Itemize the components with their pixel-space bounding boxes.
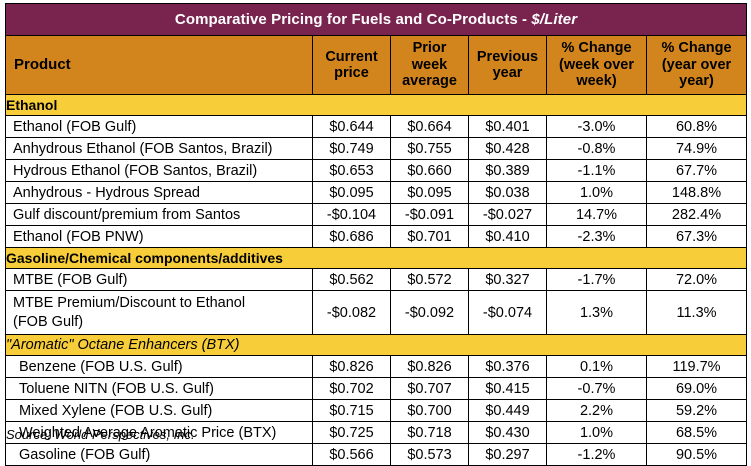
cell-previous-year: -$0.074 [469, 291, 547, 335]
cell-previous-year: $0.410 [469, 226, 547, 248]
cell-current-price: $0.653 [313, 160, 391, 182]
cell-prior-week-average: $0.718 [391, 422, 469, 444]
column-header-week-over-week: % Change (week over week) [547, 36, 647, 95]
cell-prior-week-average: $0.755 [391, 138, 469, 160]
cell-previous-year: -$0.027 [469, 204, 547, 226]
cell-current-price: -$0.082 [313, 291, 391, 335]
cell-pct-change-week-over-week: -3.0% [547, 116, 647, 138]
cell-product: Ethanol (FOB PNW) [6, 226, 313, 248]
section-header-label: "Aromatic" Octane Enhancers (BTX) [6, 335, 747, 356]
cell-pct-change-week-over-week: -1.1% [547, 160, 647, 182]
table-row: Ethanol (FOB PNW)$0.686$0.701$0.410-2.3%… [6, 226, 747, 248]
cell-previous-year: $0.449 [469, 400, 547, 422]
column-header-current-price: Current price [313, 36, 391, 95]
column-header-year-over-year-line-3: year) [647, 73, 746, 89]
cell-pct-change-week-over-week: 1.3% [547, 291, 647, 335]
source-note: Source: World Perspectives, Inc. [6, 427, 195, 442]
cell-prior-week-average: $0.701 [391, 226, 469, 248]
cell-current-price: $0.725 [313, 422, 391, 444]
column-header-previous-year-line-2: year [469, 65, 546, 81]
pricing-table-page: Comparative Pricing for Fuels and Co-Pro… [0, 0, 751, 447]
cell-current-price: -$0.104 [313, 204, 391, 226]
cell-prior-week-average: $0.095 [391, 182, 469, 204]
column-header-week-over-week-line-3: week) [547, 73, 646, 89]
cell-pct-change-week-over-week: 1.0% [547, 182, 647, 204]
cell-product: MTBE Premium/Discount to Ethanol(FOB Gul… [6, 291, 313, 335]
cell-previous-year: $0.415 [469, 378, 547, 400]
column-header-week-over-week-line-1: % Change [547, 40, 646, 56]
column-header-prior-week-average-line-2: week [391, 57, 468, 73]
cell-previous-year: $0.428 [469, 138, 547, 160]
cell-product: Mixed Xylene (FOB U.S. Gulf) [6, 400, 313, 422]
comparative-pricing-table: Comparative Pricing for Fuels and Co-Pro… [5, 3, 747, 466]
cell-pct-change-year-over-year: 67.3% [647, 226, 747, 248]
cell-pct-change-year-over-year: 68.5% [647, 422, 747, 444]
table-title: Comparative Pricing for Fuels and Co-Pro… [6, 4, 747, 36]
table-body: EthanolEthanol (FOB Gulf)$0.644$0.664$0.… [6, 95, 747, 466]
table-row: MTBE Premium/Discount to Ethanol(FOB Gul… [6, 291, 747, 335]
cell-previous-year: $0.327 [469, 269, 547, 291]
cell-product-line-2: (FOB Gulf) [13, 313, 312, 332]
table-row: MTBE (FOB Gulf)$0.562$0.572$0.327-1.7%72… [6, 269, 747, 291]
cell-prior-week-average: $0.664 [391, 116, 469, 138]
column-header-prior-week-average: Prior week average [391, 36, 469, 95]
cell-pct-change-week-over-week: 1.0% [547, 422, 647, 444]
cell-prior-week-average: $0.707 [391, 378, 469, 400]
table-title-main: Comparative Pricing for Fuels and Co-Pro… [175, 11, 532, 28]
column-header-product-line-1: Product [14, 56, 71, 73]
title-row: Comparative Pricing for Fuels and Co-Pro… [6, 4, 747, 36]
section-header-row: Ethanol [6, 95, 747, 116]
table-head: Comparative Pricing for Fuels and Co-Pro… [6, 4, 747, 95]
table-row: Gulf discount/premium from Santos-$0.104… [6, 204, 747, 226]
column-header-prior-week-average-line-1: Prior [391, 40, 468, 56]
cell-pct-change-year-over-year: 60.8% [647, 116, 747, 138]
cell-prior-week-average: $0.572 [391, 269, 469, 291]
table-row: Hydrous Ethanol (FOB Santos, Brazil)$0.6… [6, 160, 747, 182]
cell-pct-change-year-over-year: 11.3% [647, 291, 747, 335]
table-row: Toluene NITN (FOB U.S. Gulf)$0.702$0.707… [6, 378, 747, 400]
cell-pct-change-week-over-week: 14.7% [547, 204, 647, 226]
cell-pct-change-week-over-week: -2.3% [547, 226, 647, 248]
cell-pct-change-year-over-year: 72.0% [647, 269, 747, 291]
cell-pct-change-year-over-year: 74.9% [647, 138, 747, 160]
column-header-current-price-line-1: Current [313, 49, 390, 65]
cell-prior-week-average: $0.700 [391, 400, 469, 422]
cell-pct-change-week-over-week: 0.1% [547, 356, 647, 378]
cell-pct-change-year-over-year: 69.0% [647, 378, 747, 400]
column-header-year-over-year: % Change (year over year) [647, 36, 747, 95]
column-header-year-over-year-line-1: % Change [647, 40, 746, 56]
column-header-row: Product Current price Prior week average… [6, 36, 747, 95]
cell-product: Hydrous Ethanol (FOB Santos, Brazil) [6, 160, 313, 182]
cell-current-price: $0.702 [313, 378, 391, 400]
cell-previous-year: $0.389 [469, 160, 547, 182]
column-header-current-price-line-2: price [313, 65, 390, 81]
cell-pct-change-year-over-year: 59.2% [647, 400, 747, 422]
cell-product: Benzene (FOB U.S. Gulf) [6, 356, 313, 378]
cell-current-price: $0.715 [313, 400, 391, 422]
table-title-unit: $/Liter [531, 11, 577, 28]
cell-previous-year: $0.376 [469, 356, 547, 378]
cell-current-price: $0.686 [313, 226, 391, 248]
cell-product: Anhydrous - Hydrous Spread [6, 182, 313, 204]
cell-current-price: $0.644 [313, 116, 391, 138]
cell-pct-change-year-over-year: 148.8% [647, 182, 747, 204]
cell-product: Gulf discount/premium from Santos [6, 204, 313, 226]
cell-pct-change-year-over-year: 119.7% [647, 356, 747, 378]
table-row: Benzene (FOB U.S. Gulf)$0.826$0.826$0.37… [6, 356, 747, 378]
cell-prior-week-average: $0.660 [391, 160, 469, 182]
pricing-table-container: Comparative Pricing for Fuels and Co-Pro… [5, 3, 746, 466]
cell-product: Anhydrous Ethanol (FOB Santos, Brazil) [6, 138, 313, 160]
column-header-week-over-week-line-2: (week over [547, 57, 646, 73]
table-row: Ethanol (FOB Gulf)$0.644$0.664$0.401-3.0… [6, 116, 747, 138]
section-header-label: Ethanol [6, 95, 747, 116]
section-header-row: "Aromatic" Octane Enhancers (BTX) [6, 335, 747, 356]
cell-pct-change-week-over-week: -0.7% [547, 378, 647, 400]
cell-previous-year: $0.430 [469, 422, 547, 444]
section-header-label: Gasoline/Chemical components/additives [6, 248, 747, 269]
cell-product-line-1: MTBE Premium/Discount to Ethanol [13, 294, 312, 313]
cell-current-price: $0.749 [313, 138, 391, 160]
column-header-year-over-year-line-2: (year over [647, 57, 746, 73]
column-header-product: Product [6, 36, 313, 95]
cell-product: MTBE (FOB Gulf) [6, 269, 313, 291]
cell-previous-year: $0.038 [469, 182, 547, 204]
cell-current-price: $0.826 [313, 356, 391, 378]
cell-pct-change-year-over-year: 282.4% [647, 204, 747, 226]
cell-prior-week-average: -$0.091 [391, 204, 469, 226]
column-header-previous-year: Previous year [469, 36, 547, 95]
section-header-row: Gasoline/Chemical components/additives [6, 248, 747, 269]
cell-prior-week-average: -$0.092 [391, 291, 469, 335]
cell-previous-year: $0.401 [469, 116, 547, 138]
cell-prior-week-average: $0.826 [391, 356, 469, 378]
cell-pct-change-week-over-week: -0.8% [547, 138, 647, 160]
table-row: Anhydrous - Hydrous Spread$0.095$0.095$0… [6, 182, 747, 204]
cell-product: Toluene NITN (FOB U.S. Gulf) [6, 378, 313, 400]
cell-product: Ethanol (FOB Gulf) [6, 116, 313, 138]
cell-current-price: $0.562 [313, 269, 391, 291]
table-row: Mixed Xylene (FOB U.S. Gulf)$0.715$0.700… [6, 400, 747, 422]
cell-current-price: $0.095 [313, 182, 391, 204]
cell-pct-change-week-over-week: 2.2% [547, 400, 647, 422]
cell-pct-change-year-over-year: 67.7% [647, 160, 747, 182]
column-header-previous-year-line-1: Previous [469, 49, 546, 65]
column-header-prior-week-average-line-3: average [391, 73, 468, 89]
cell-pct-change-week-over-week: -1.7% [547, 269, 647, 291]
table-row: Anhydrous Ethanol (FOB Santos, Brazil)$0… [6, 138, 747, 160]
